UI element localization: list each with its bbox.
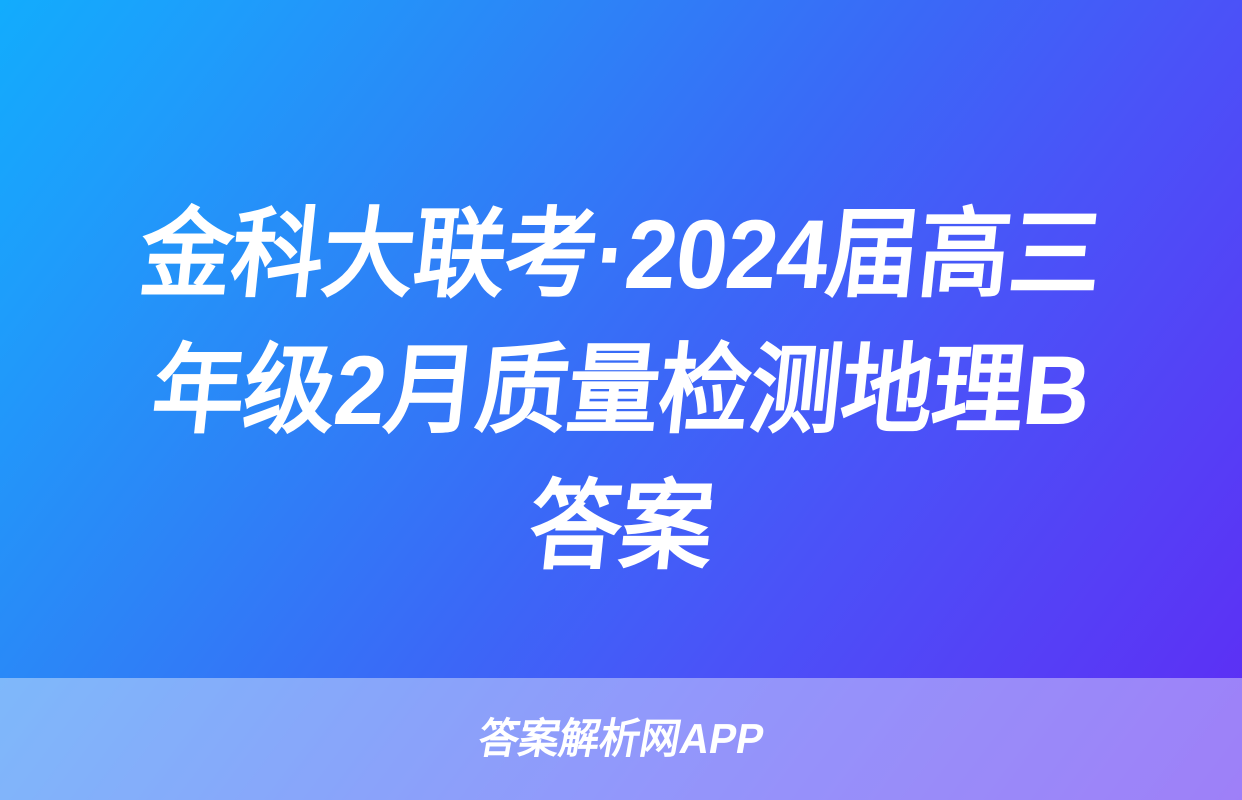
page-title: 金科大联考·2024届高三 年级2月质量检测地理B 答案: [0, 186, 1242, 594]
watermark-brand-label: 答案解析网APP: [475, 715, 768, 763]
watermark-bar: 答案解析网APP: [0, 678, 1242, 800]
title-line-1: 金科大联考·2024届高三: [134, 186, 1109, 322]
answer-title-card: 金科大联考·2024届高三 年级2月质量检测地理B 答案 答案解析网APP: [0, 0, 1242, 800]
title-line-3: 答案: [523, 458, 720, 594]
title-line-2: 年级2月质量检测地理B: [146, 322, 1097, 458]
